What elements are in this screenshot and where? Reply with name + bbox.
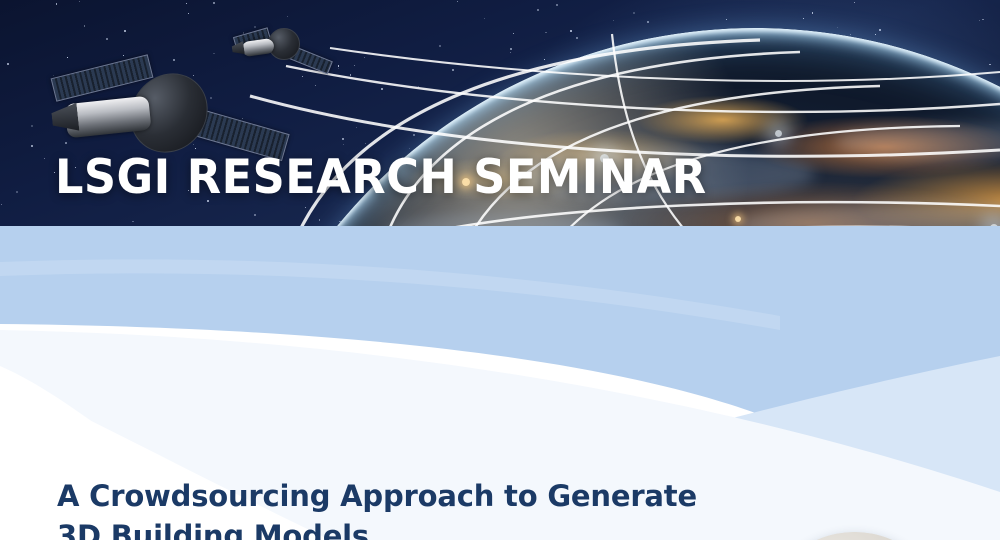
banner-title: LSGI RESEARCH SEMINAR bbox=[55, 150, 707, 205]
page-title: A Crowdsourcing Approach to Generate 3D … bbox=[57, 476, 817, 540]
talk-title-line-2: 3D Building Models bbox=[57, 516, 817, 540]
poster-body: A Crowdsourcing Approach to Generate 3D … bbox=[0, 226, 1000, 540]
seminar-poster: LSGI RESEARCH SEMINAR A Crowdsourcing Ap… bbox=[0, 0, 1000, 540]
talk-title-line-1: A Crowdsourcing Approach to Generate bbox=[57, 476, 817, 516]
banner-space-image: LSGI RESEARCH SEMINAR bbox=[0, 0, 1000, 226]
satellite-small bbox=[232, 22, 332, 84]
